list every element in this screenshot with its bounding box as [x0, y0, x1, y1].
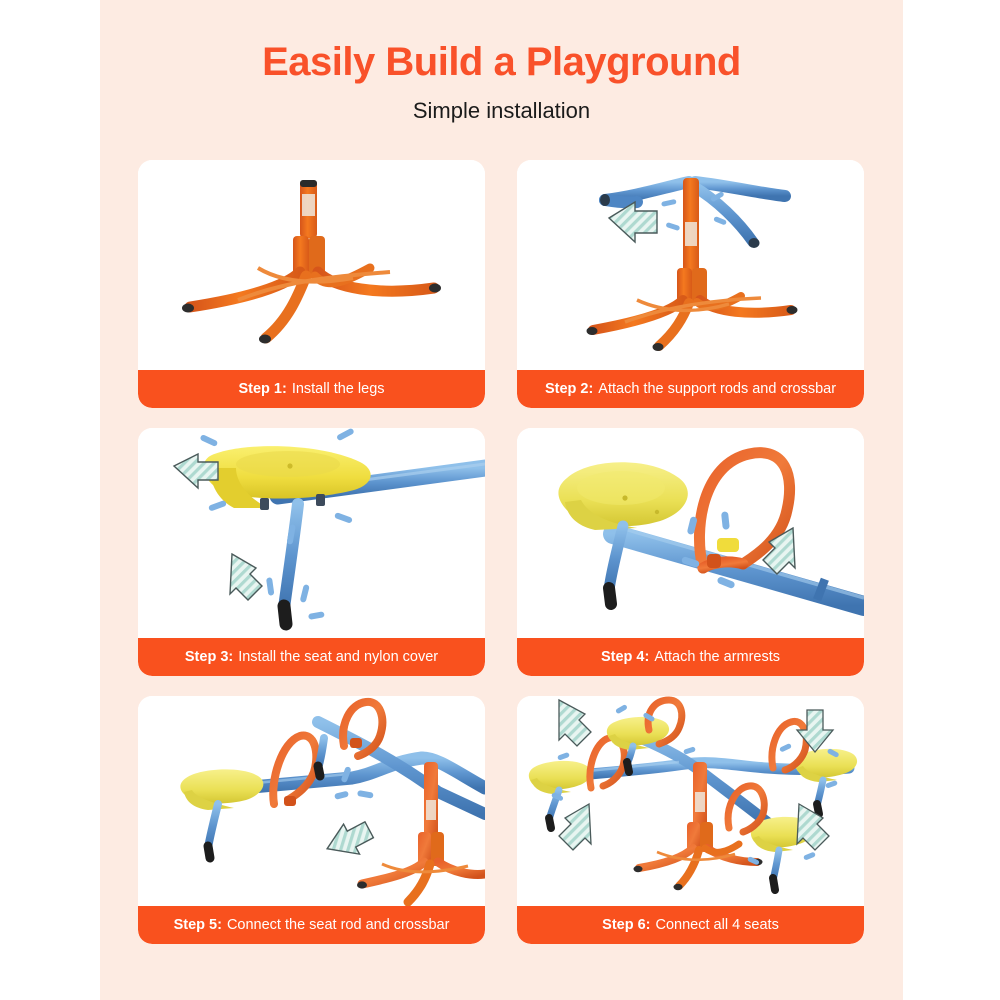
page-title: Easily Build a Playground	[100, 40, 903, 84]
step-3-label: Step 3: Install the seat and nylon cover	[138, 638, 485, 676]
direction-arrow-icon	[321, 815, 378, 867]
step-2-description: Attach the support rods and crossbar	[598, 381, 836, 397]
orange-armrest-left	[273, 735, 316, 806]
orange-base-frame	[182, 180, 441, 344]
direction-arrow-icon	[609, 202, 657, 242]
step-5-label: Step 5: Connect the seat rod and crossba…	[138, 906, 485, 944]
step-card-5[interactable]: Step 5: Connect the seat rod and crossba…	[138, 696, 485, 944]
step-card-4[interactable]: Step 4: Attach the armrests	[517, 428, 864, 676]
step-2-illustration	[517, 160, 864, 370]
step-1-label: Step 1: Install the legs	[138, 370, 485, 408]
step-2-label: Step 2: Attach the support rods and cros…	[517, 370, 864, 408]
step-1-illustration	[138, 160, 485, 370]
step-3-number: Step 3:	[185, 649, 233, 665]
step-6-number: Step 6:	[602, 917, 650, 933]
step-1-number: Step 1:	[238, 381, 286, 397]
blue-seat-leg-top	[627, 746, 633, 772]
header: Easily Build a Playground Simple install…	[100, 0, 903, 124]
orange-center-post-and-base	[634, 762, 763, 890]
page-subtitle: Simple installation	[100, 98, 903, 124]
step-5-number: Step 5:	[174, 917, 222, 933]
step-6-label: Step 6: Connect all 4 seats	[517, 906, 864, 944]
promo-panel: Easily Build a Playground Simple install…	[100, 0, 903, 1000]
blue-seat-leg-right	[817, 780, 823, 814]
step-3-description: Install the seat and nylon cover	[238, 649, 438, 665]
blue-seat-leg-mid	[318, 738, 324, 776]
step-3-illustration	[138, 428, 485, 638]
step-card-6[interactable]: Step 6: Connect all 4 seats	[517, 696, 864, 944]
step-card-2[interactable]: Step 2: Attach the support rods and cros…	[517, 160, 864, 408]
step-card-1[interactable]: Step 1: Install the legs	[138, 160, 485, 408]
step-4-description: Attach the armrests	[654, 649, 780, 665]
blue-support-leg	[284, 504, 298, 624]
yellow-seat	[558, 462, 687, 530]
step-5-illustration	[138, 696, 485, 906]
step-5-description: Connect the seat rod and crossbar	[227, 917, 449, 933]
step-6-description: Connect all 4 seats	[656, 917, 779, 933]
step-6-illustration	[517, 696, 864, 906]
step-card-3[interactable]: Step 3: Install the seat and nylon cover	[138, 428, 485, 676]
step-1-description: Install the legs	[292, 381, 385, 397]
steps-grid: Step 1: Install the legs	[138, 160, 865, 944]
step-4-label: Step 4: Attach the armrests	[517, 638, 864, 676]
step-4-number: Step 4:	[601, 649, 649, 665]
step-4-illustration	[517, 428, 864, 638]
blue-seat-leg-bottom	[773, 850, 779, 890]
blue-seat-leg-left	[208, 804, 218, 858]
step-2-number: Step 2:	[545, 381, 593, 397]
